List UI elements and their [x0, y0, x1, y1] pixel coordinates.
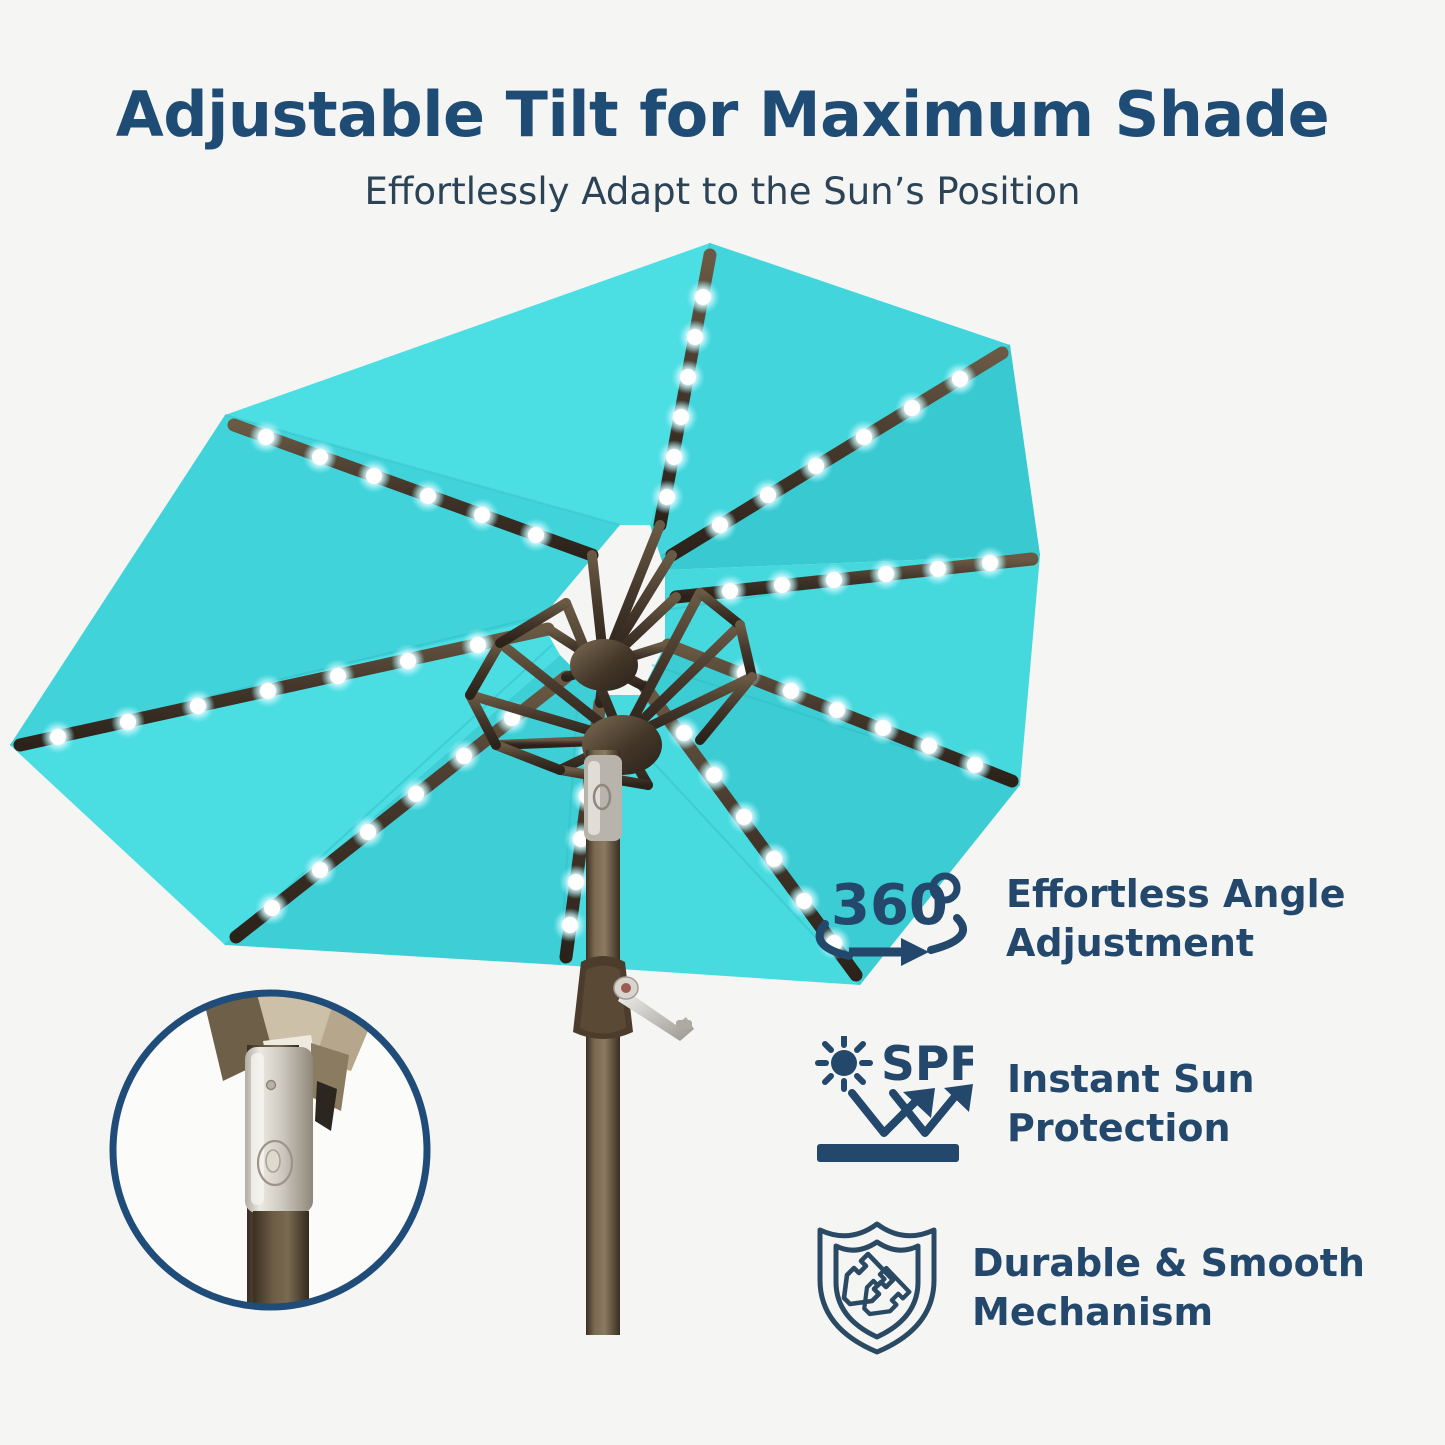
feature-label: Effortless Angle Adjustment: [1006, 870, 1345, 967]
feature-label: Instant Sun Protection: [1007, 1055, 1445, 1152]
360-degree-rotation-icon: 360: [805, 866, 980, 971]
feature-item-angle-adjustment: 360 Effortless Angle Adjustment: [805, 866, 1345, 971]
tilt-mechanism-closeup: [105, 985, 435, 1315]
umbrella-pole: [584, 750, 622, 1335]
upper-hub: [570, 639, 638, 691]
page-title: Adjustable Tilt for Maximum Shade: [0, 78, 1445, 151]
feature-label: Durable & Smooth Mechanism: [972, 1239, 1365, 1336]
svg-text:360: 360: [831, 873, 948, 938]
svg-text:SPF: SPF: [881, 1037, 973, 1092]
spf-sun-protection-icon: SPF: [805, 1036, 973, 1171]
feature-item-durable-mechanism: Durable & Smooth Mechanism: [812, 1218, 1365, 1358]
feature-item-sun-protection: SPF Instant Sun Protection: [805, 1036, 1445, 1171]
shield-wrench-icon: [812, 1218, 942, 1358]
page-subtitle: Effortlessly Adapt to the Sun’s Position: [0, 170, 1445, 213]
product-feature-image: Adjustable Tilt for Maximum Shade Effort…: [0, 0, 1445, 1445]
